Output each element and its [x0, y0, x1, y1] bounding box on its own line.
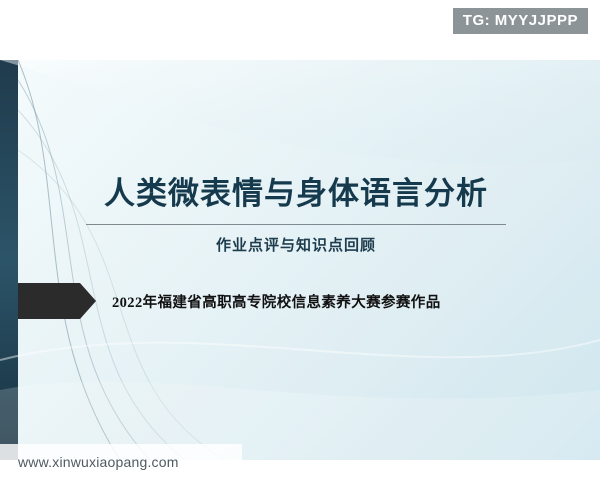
screenshot-root: TG: MYYJJPPP 人类微表情与身体语言分析 作业点评与知识点回顾	[0, 0, 600, 480]
site-watermark-text: www.xinwuxiaopang.com	[0, 454, 179, 470]
decorative-curves	[0, 60, 600, 460]
presentation-slide: 人类微表情与身体语言分析 作业点评与知识点回顾 2022年福建省高职高专院校信息…	[0, 60, 600, 460]
slide-main-title: 人类微表情与身体语言分析	[46, 175, 546, 212]
banner-arrow-shape	[18, 283, 96, 319]
slide-title-block: 人类微表情与身体语言分析 作业点评与知识点回顾	[46, 175, 546, 255]
site-watermark-bar: www.xinwuxiaopang.com	[0, 444, 242, 480]
event-banner: 2022年福建省高职高专院校信息素养大赛参赛作品	[18, 283, 441, 319]
telegram-watermark-badge: TG: MYYJJPPP	[453, 8, 588, 34]
title-divider	[86, 224, 506, 225]
event-banner-text: 2022年福建省高职高专院校信息素养大赛参赛作品	[96, 283, 441, 319]
slide-subtitle: 作业点评与知识点回顾	[46, 234, 546, 255]
